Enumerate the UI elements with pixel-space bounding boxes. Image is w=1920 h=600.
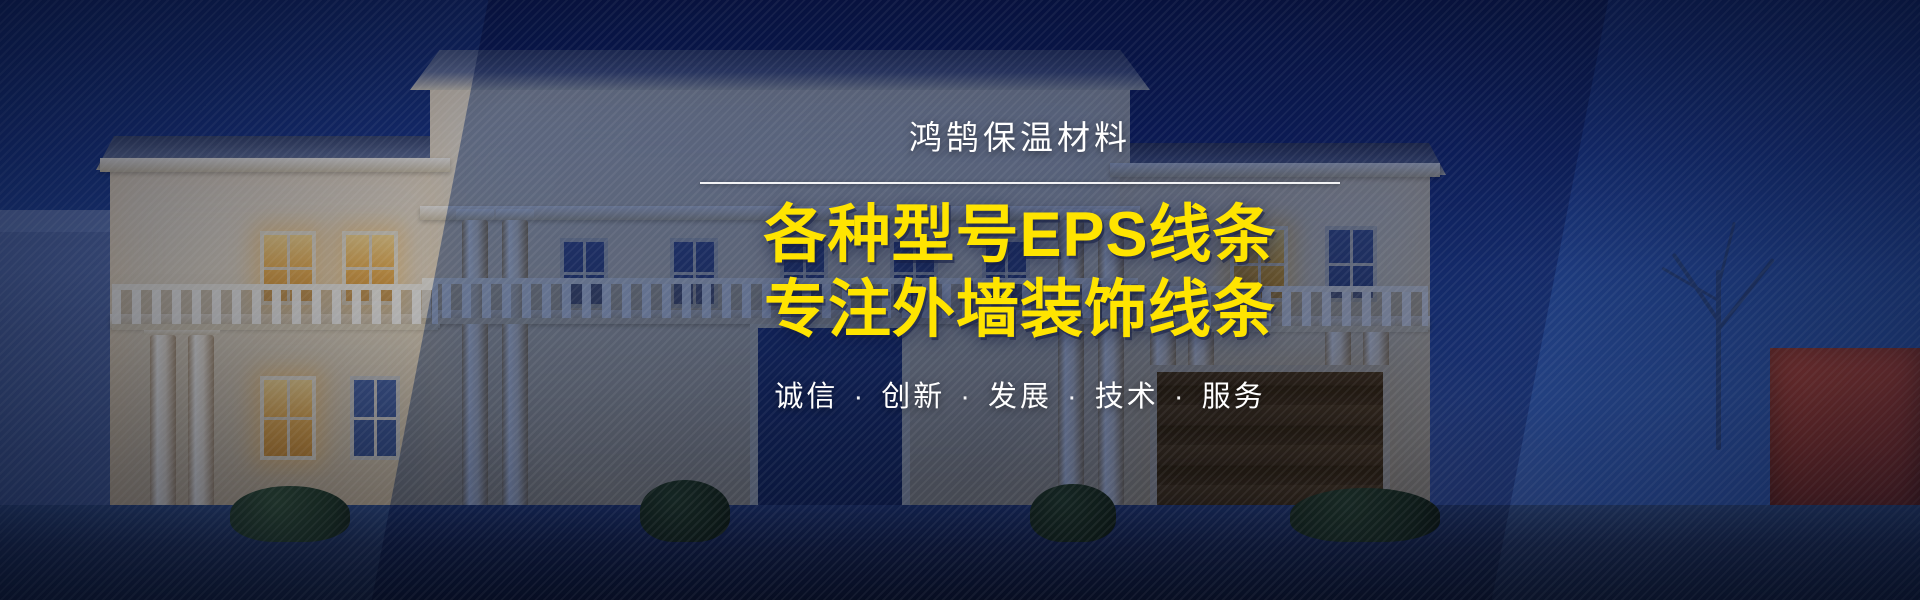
tagline-separator: · [842,381,877,413]
hero-banner: 鸿鹄保温材料 各种型号EPS线条 专注外墙装饰线条 诚信 · 创新 · 发展 ·… [0,0,1920,600]
tagline-item: 创新 [881,381,945,413]
tagline-separator: · [1163,381,1198,413]
brand-name: 鸿鹄保温材料 [700,120,1340,156]
headline-line-1: 各种型号EPS线条 [700,198,1340,272]
banner-copy-block: 鸿鹄保温材料 各种型号EPS线条 专注外墙装饰线条 诚信 · 创新 · 发展 ·… [700,120,1340,415]
tagline-item: 诚信 [774,381,838,413]
headline-line-2: 专注外墙装饰线条 [700,273,1340,347]
tagline-item: 技术 [1095,381,1159,413]
tagline: 诚信 · 创新 · 发展 · 技术 · 服务 [700,373,1340,415]
tagline-item: 发展 [988,381,1052,413]
tagline-separator: · [949,381,984,413]
tagline-separator: · [1056,381,1091,413]
divider-rule [700,182,1340,184]
tagline-item: 服务 [1202,381,1266,413]
